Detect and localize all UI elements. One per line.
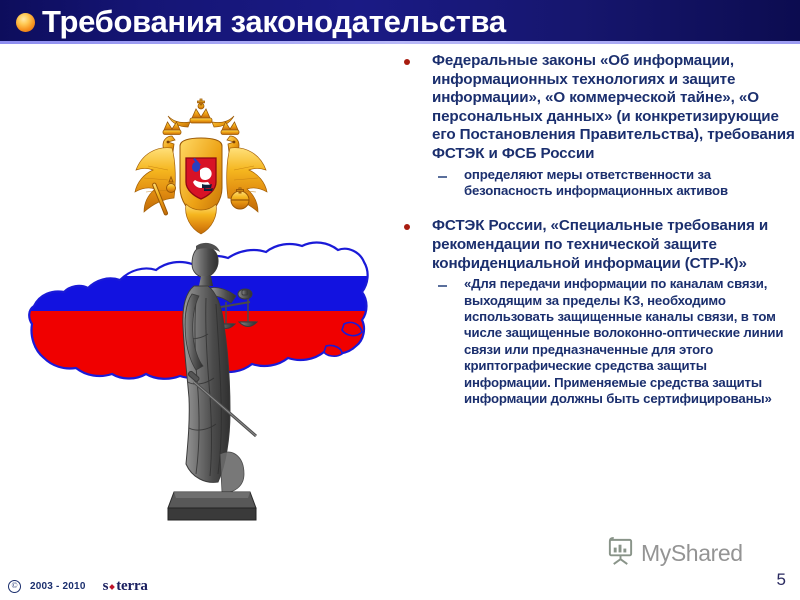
- orange-circle-bullet-icon: [16, 13, 35, 32]
- red-diamond-dot-icon: [109, 584, 115, 590]
- bullet-dot-icon: [404, 59, 410, 65]
- dash-marker-icon: [438, 176, 447, 178]
- sub-bullet-text: определяют меры ответственности за безоп…: [464, 167, 796, 200]
- list-item: ФСТЭК России, «Специальные требования и …: [396, 217, 796, 273]
- slide-number: 5: [777, 570, 786, 590]
- page-title: Требования законодательства: [42, 2, 506, 42]
- illustration-russia-legal: [0, 44, 400, 544]
- list-item: Федеральные законы «Об информации, инфор…: [396, 52, 796, 164]
- list-item: определяют меры ответственности за безоп…: [396, 167, 796, 200]
- dash-marker-icon: [438, 285, 447, 287]
- logo-suffix: terra: [116, 578, 147, 595]
- slide-title-bar: Требования законодательства: [0, 0, 800, 44]
- copyright-years: 2003 - 2010: [30, 581, 86, 592]
- myshared-watermark: MyShared: [606, 536, 743, 570]
- russian-double-headed-eagle-icon: [128, 96, 274, 236]
- lady-justice-statue-icon: [158, 242, 266, 534]
- list-item: «Для передачи информации по каналам связ…: [396, 276, 796, 407]
- logo-prefix: s: [103, 578, 109, 595]
- bullet-dot-icon: [404, 224, 410, 230]
- watermark-label: MyShared: [641, 540, 743, 567]
- flipchart-bar-chart-icon: [606, 536, 635, 570]
- bullet-text: Федеральные законы «Об информации, инфор…: [432, 52, 796, 164]
- copyright-icon: ©: [8, 580, 21, 593]
- slide-content: Федеральные законы «Об информации, инфор…: [396, 52, 796, 407]
- sterra-logo: s terra: [103, 578, 148, 595]
- bullet-text: ФСТЭК России, «Специальные требования и …: [432, 217, 796, 273]
- footer-copyright: © 2003 - 2010 s terra: [8, 578, 148, 595]
- spacer: [396, 199, 796, 217]
- sub-bullet-text: «Для передачи информации по каналам связ…: [464, 276, 796, 407]
